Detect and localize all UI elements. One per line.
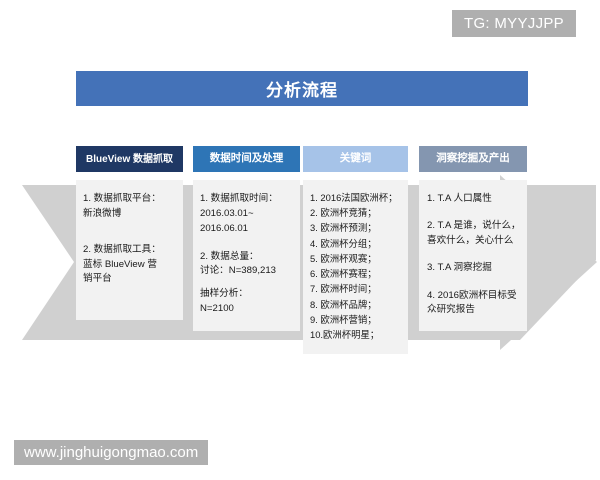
column-2-line: 2016.06.01 xyxy=(200,222,293,237)
keyword-item: 8. 欧洲杯品牌； xyxy=(310,297,402,312)
column-4-header: 洞察挖掘及产出 xyxy=(419,146,527,172)
keyword-item: 2. 欧洲杯竞猜； xyxy=(310,205,402,220)
page-title: 分析流程 xyxy=(266,76,338,101)
slide-canvas: 分析流程 BlueView 数据抓取 1. 数据抓取平台： 新浪微博 2. 数据… xyxy=(0,0,600,480)
column-2-line: 2. 数据总量： xyxy=(200,250,293,265)
column-3-header: 关键词 xyxy=(303,146,408,172)
slide-title-banner: 分析流程 xyxy=(76,71,528,106)
column-2-line: 抽样分析： xyxy=(200,287,293,302)
column-1-line: 销平台 xyxy=(83,272,176,287)
column-1-header: BlueView 数据抓取 xyxy=(76,146,183,172)
process-column-3: 关键词 1. 2016法国欧洲杯； 2. 欧洲杯竞猜； 3. 欧洲杯预测； 4.… xyxy=(303,146,408,354)
spacer xyxy=(427,248,521,261)
column-1-line: 2. 数据抓取工具： xyxy=(83,243,176,258)
column-1-line: 新浪微博 xyxy=(83,207,176,222)
column-2-line: 2016.03.01~ xyxy=(200,207,293,222)
keyword-item: 5. 欧洲杯观赛； xyxy=(310,251,402,266)
column-1-line: 蓝标 BlueView 营 xyxy=(83,258,176,273)
keyword-item: 9. 欧洲杯营销； xyxy=(310,312,402,327)
keyword-item: 6. 欧洲杯赛程； xyxy=(310,266,402,281)
spacer xyxy=(427,206,521,219)
column-3-body: 1. 2016法国欧洲杯； 2. 欧洲杯竞猜； 3. 欧洲杯预测； 4. 欧洲杯… xyxy=(303,180,408,354)
column-4-line: 众研究报告 xyxy=(427,303,521,317)
spacer xyxy=(83,235,176,243)
column-4-line: 1. T.A 人口属性 xyxy=(427,192,521,206)
column-4-line: 2. T.A 是谁，说什么， xyxy=(427,219,521,233)
keyword-item: 10.欧洲杯明星； xyxy=(310,327,402,342)
telegram-watermark: TG: MYYJJPP xyxy=(452,10,576,37)
column-1-body: 1. 数据抓取平台： 新浪微博 2. 数据抓取工具： 蓝标 BlueView 营… xyxy=(76,180,183,320)
column-4-line: 3. T.A 洞察挖掘 xyxy=(427,261,521,275)
column-2-line: N=2100 xyxy=(200,302,293,317)
keyword-item: 7. 欧洲杯时间； xyxy=(310,281,402,296)
column-2-line: 1. 数据抓取时间： xyxy=(200,192,293,207)
column-2-header: 数据时间及处理 xyxy=(193,146,300,172)
column-2-body: 1. 数据抓取时间： 2016.03.01~ 2016.06.01 2. 数据总… xyxy=(193,180,300,331)
column-1-line: 1. 数据抓取平台： xyxy=(83,192,176,207)
site-watermark: www.jinghuigongmao.com xyxy=(14,440,208,465)
spacer xyxy=(200,279,293,287)
keyword-item: 1. 2016法国欧洲杯； xyxy=(310,190,402,205)
spacer xyxy=(200,237,293,250)
keyword-item: 4. 欧洲杯分组； xyxy=(310,236,402,251)
column-4-body: 1. T.A 人口属性 2. T.A 是谁，说什么， 喜欢什么，关心什么 3. … xyxy=(419,180,527,331)
process-column-1: BlueView 数据抓取 1. 数据抓取平台： 新浪微博 2. 数据抓取工具：… xyxy=(76,146,183,320)
column-4-line: 4. 2016欧洲杯目标受 xyxy=(427,289,521,303)
column-2-line: 讨论：N=389,213 xyxy=(200,264,293,279)
keyword-item: 3. 欧洲杯预测； xyxy=(310,220,402,235)
column-4-line: 喜欢什么，关心什么 xyxy=(427,234,521,248)
spacer xyxy=(427,276,521,289)
spacer xyxy=(83,222,176,235)
process-column-4: 洞察挖掘及产出 1. T.A 人口属性 2. T.A 是谁，说什么， 喜欢什么，… xyxy=(419,146,527,331)
process-column-2: 数据时间及处理 1. 数据抓取时间： 2016.03.01~ 2016.06.0… xyxy=(193,146,300,331)
